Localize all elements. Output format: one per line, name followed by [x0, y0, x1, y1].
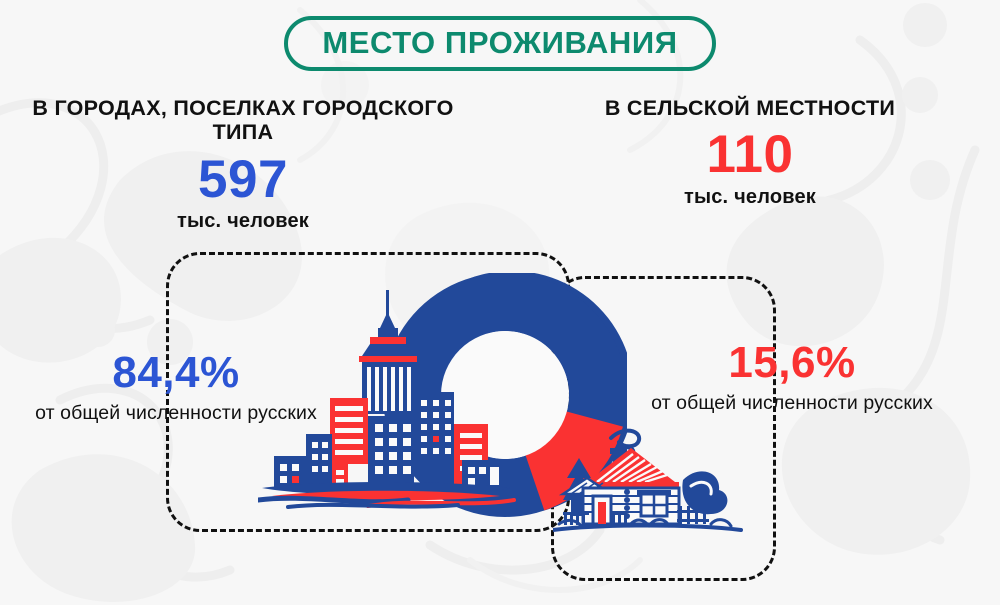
percent-value-urban: 84,4% — [28, 350, 324, 396]
percent-value-rural: 15,6% — [642, 340, 942, 386]
stat-block-urban: В ГОРОДАХ, ПОСЕЛКАХ ГОРОДСКОГО ТИПА 597 … — [28, 96, 458, 233]
village-house-icon — [553, 420, 743, 535]
page-title-pill: МЕСТО ПРОЖИВАНИЯ — [284, 16, 715, 71]
stat-unit-urban: тыс. человек — [28, 210, 458, 233]
title-container: МЕСТО ПРОЖИВАНИЯ — [0, 16, 1000, 71]
stat-label-rural: В СЕЛЬСКОЙ МЕСТНОСТИ — [560, 96, 940, 120]
percent-desc-rural: от общей численности русских — [642, 392, 942, 415]
stat-block-rural: В СЕЛЬСКОЙ МЕСТНОСТИ 110 тыс. человек — [560, 96, 940, 209]
stat-label-urban: В ГОРОДАХ, ПОСЕЛКАХ ГОРОДСКОГО ТИПА — [28, 96, 458, 145]
percent-callout-urban: 84,4% от общей численности русских — [28, 350, 324, 425]
stat-value-rural: 110 — [560, 127, 940, 183]
percent-callout-rural: 15,6% от общей численности русских — [642, 340, 942, 415]
stat-unit-rural: тыс. человек — [560, 186, 940, 209]
page-title: МЕСТО ПРОЖИВАНИЯ — [322, 25, 677, 60]
stat-value-urban: 597 — [28, 152, 458, 208]
percent-desc-urban: от общей численности русских — [28, 402, 324, 425]
